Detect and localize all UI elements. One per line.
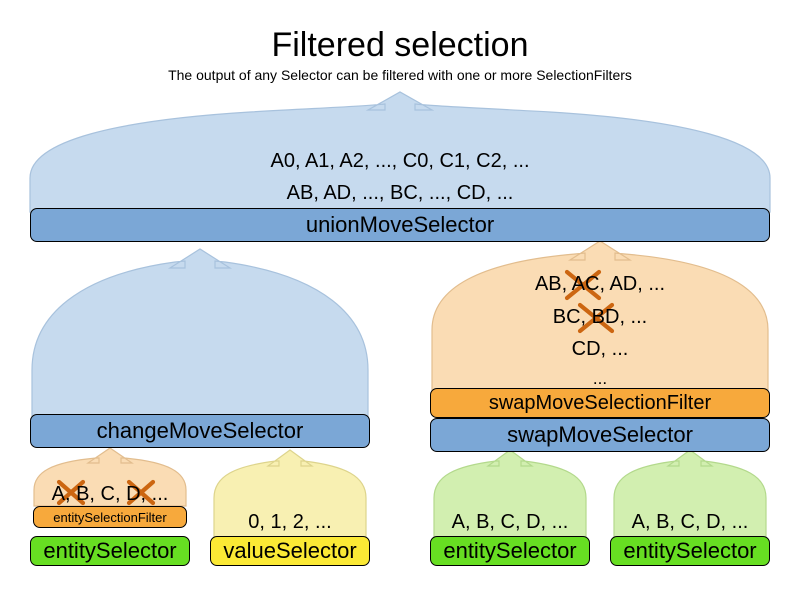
node-swap-move-selector[interactable]: swapMoveSelector — [430, 418, 770, 452]
union-move-selector-output-line-1: A0, A1, A2, ..., C0, C1, C2, ... — [0, 151, 800, 171]
node-entity-selector-swap-left[interactable]: entitySelector — [430, 536, 590, 566]
swap-move-selection-filter-label: swapMoveSelectionFilter — [489, 393, 711, 413]
union-move-selector-output-line-2: AB, AD, ..., BC, ..., CD, ... — [0, 183, 800, 203]
entity-selector-filtered-output-line-1: A, B, C, D, ... — [0, 484, 510, 504]
value-selector-label: valueSelector — [223, 540, 356, 562]
node-swap-move-selection-filter[interactable]: swapMoveSelectionFilter — [430, 388, 770, 418]
entity-selector-swap-right-output-line-1: A, B, C, D, ... — [290, 512, 800, 532]
swap-move-selector-output-line-4: ... — [200, 370, 800, 387]
node-entity-selector-filtered[interactable]: entitySelector — [30, 536, 190, 566]
entity-selector-swap-right-label: entitySelector — [623, 540, 756, 562]
change-move-selector-label: changeMoveSelector — [97, 420, 304, 442]
entity-selector-swap-left-label: entitySelector — [443, 540, 576, 562]
swap-move-selector-output-line-3: CD, ... — [200, 339, 800, 359]
swap-move-selector-label: swapMoveSelector — [507, 424, 693, 446]
change-move-selector-output-line-2: C0, C1, C2, ... — [0, 369, 200, 389]
node-entity-selection-filter[interactable]: entitySelectionFilter — [33, 506, 187, 528]
entity-selection-filter-label: entitySelectionFilter — [53, 511, 166, 524]
diagram-root: Filtered selection The output of any Sel… — [0, 0, 800, 600]
page-subtitle: The output of any Selector can be filter… — [0, 68, 800, 82]
union-move-selector-label: unionMoveSelector — [306, 214, 494, 236]
node-value-selector[interactable]: valueSelector — [210, 536, 370, 566]
entity-selector-filtered-label: entitySelector — [43, 540, 176, 562]
node-change-move-selector[interactable]: changeMoveSelector — [30, 414, 370, 448]
swap-move-selector-output-line-1: AB, AC, AD, ... — [200, 274, 800, 294]
page-title: Filtered selection — [0, 28, 800, 62]
change-move-selector-output-line-1: A0, A1, A2, ... — [0, 337, 200, 357]
swap-move-selector-output-line-2: BC, BD, ... — [200, 307, 800, 327]
node-entity-selector-swap-right[interactable]: entitySelector — [610, 536, 770, 566]
node-union-move-selector[interactable]: unionMoveSelector — [30, 208, 770, 242]
